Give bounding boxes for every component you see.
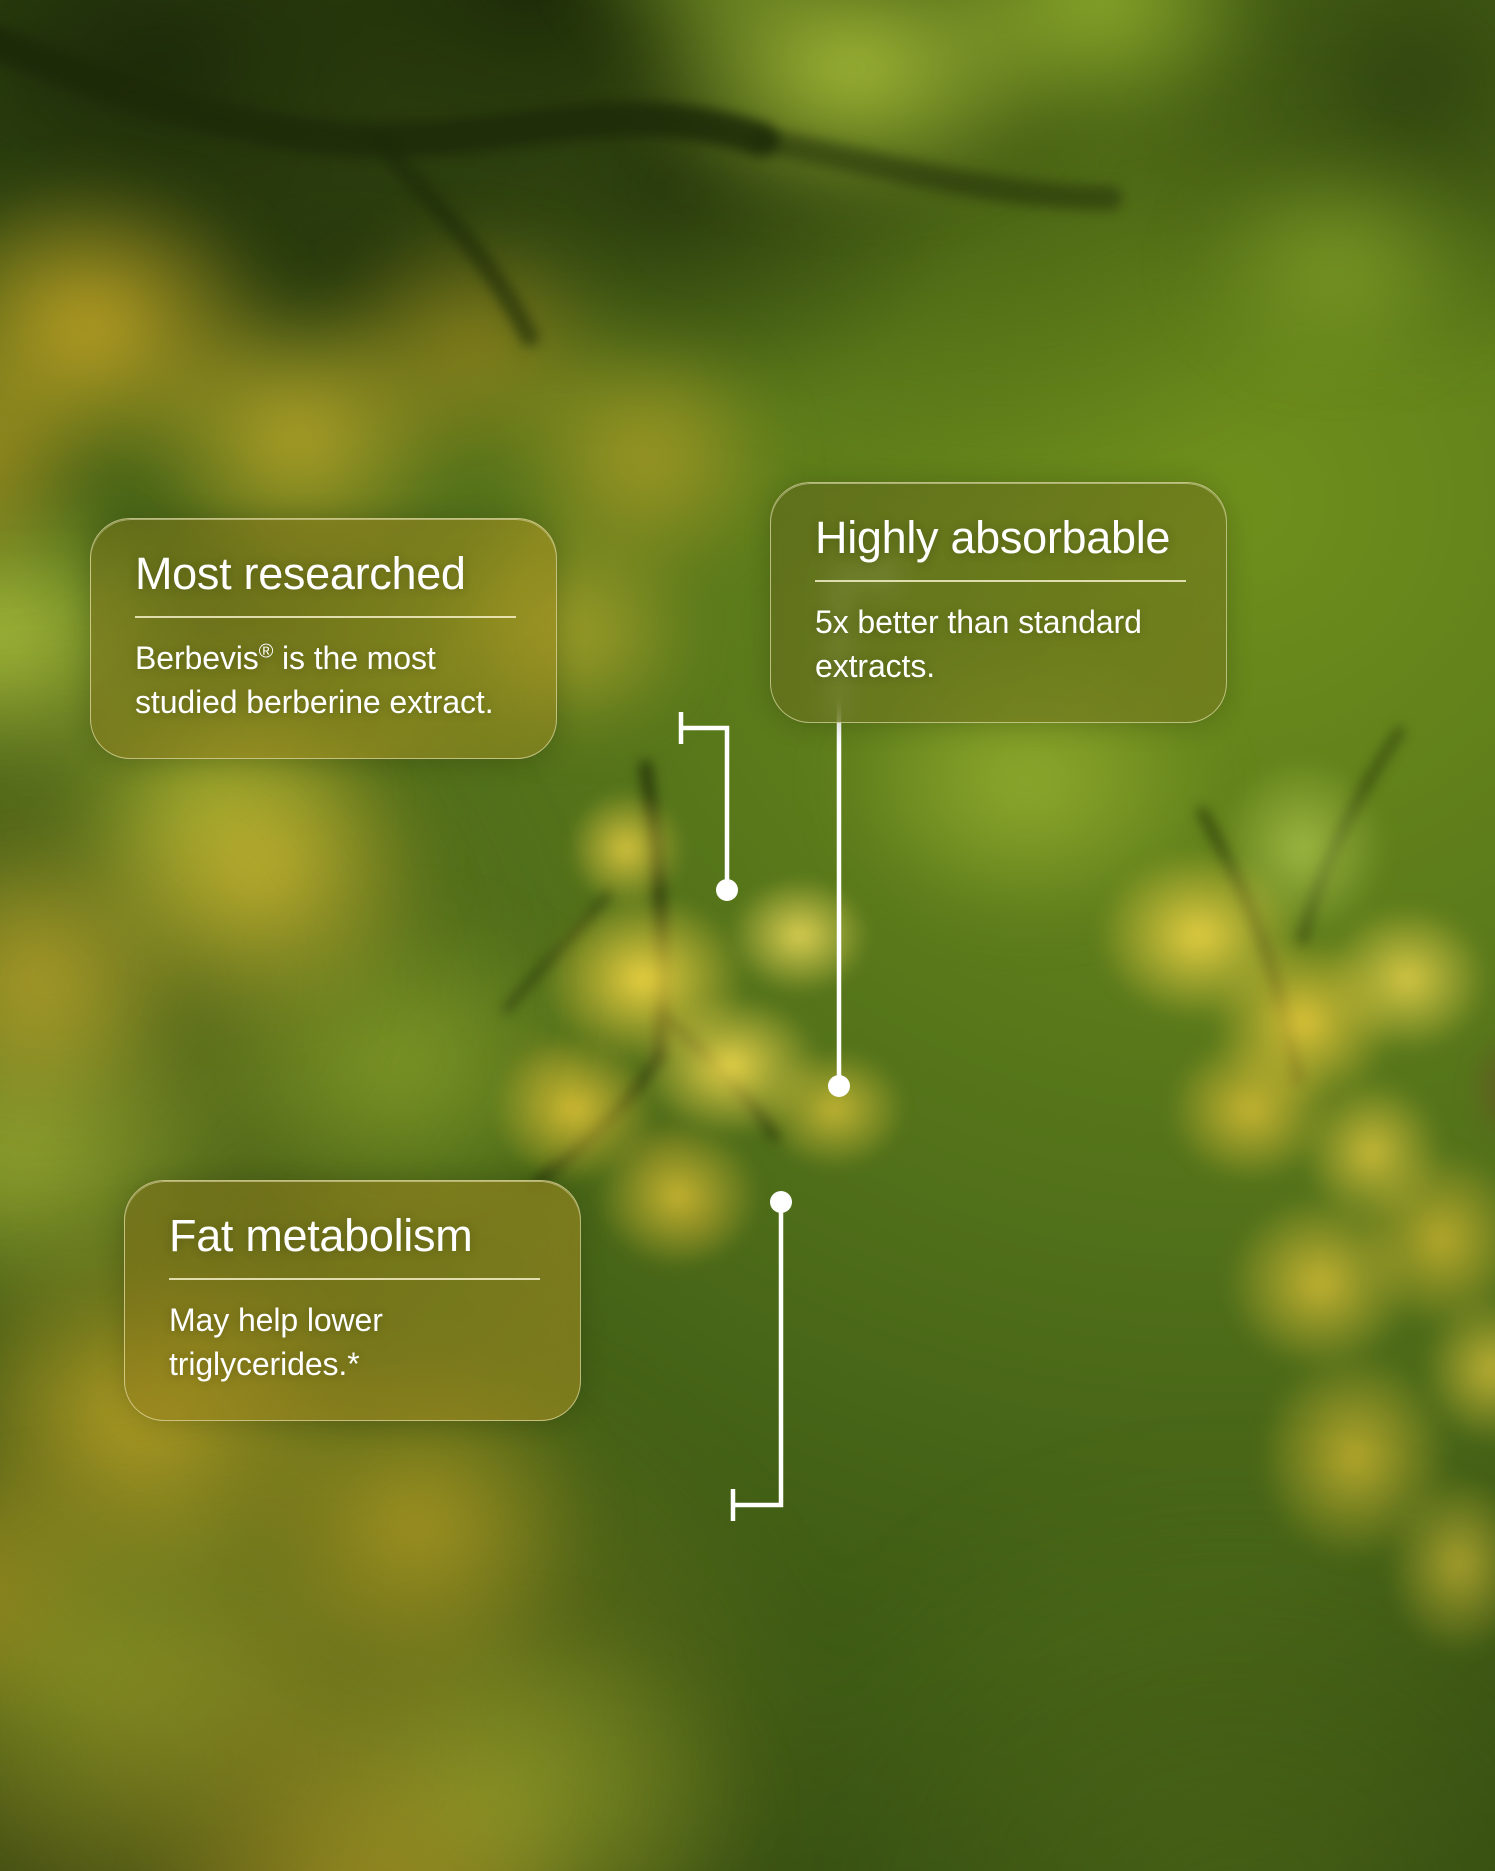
brand-name: Berbevis (135, 640, 259, 676)
card-title-most-researched: Most researched (135, 549, 516, 599)
benefit-card-fat-metabolism[interactable]: Fat metabolism May help lower triglyceri… (124, 1180, 581, 1421)
card-body-fat-metabolism: May help lower triglycerides.* (169, 1298, 540, 1386)
photo-vignette (0, 0, 1495, 1871)
benefit-card-most-researched[interactable]: Most researched Berbevis® is the most st… (90, 518, 557, 759)
card-body-most-researched: Berbevis® is the most studied berberine … (135, 636, 516, 724)
card-divider (135, 616, 516, 618)
card-title-fat-metabolism: Fat metabolism (169, 1211, 540, 1261)
registered-trademark-icon: ® (259, 640, 274, 662)
background-photograph (0, 0, 1495, 1871)
card-divider (815, 580, 1186, 582)
infographic-stage: Most researched Berbevis® is the most st… (0, 0, 1495, 1871)
card-divider (169, 1278, 540, 1280)
card-title-highly-absorbable: Highly absorbable (815, 513, 1186, 563)
benefit-card-highly-absorbable[interactable]: Highly absorbable 5x better than standar… (770, 482, 1227, 723)
card-body-highly-absorbable: 5x better than standard extracts. (815, 600, 1186, 688)
